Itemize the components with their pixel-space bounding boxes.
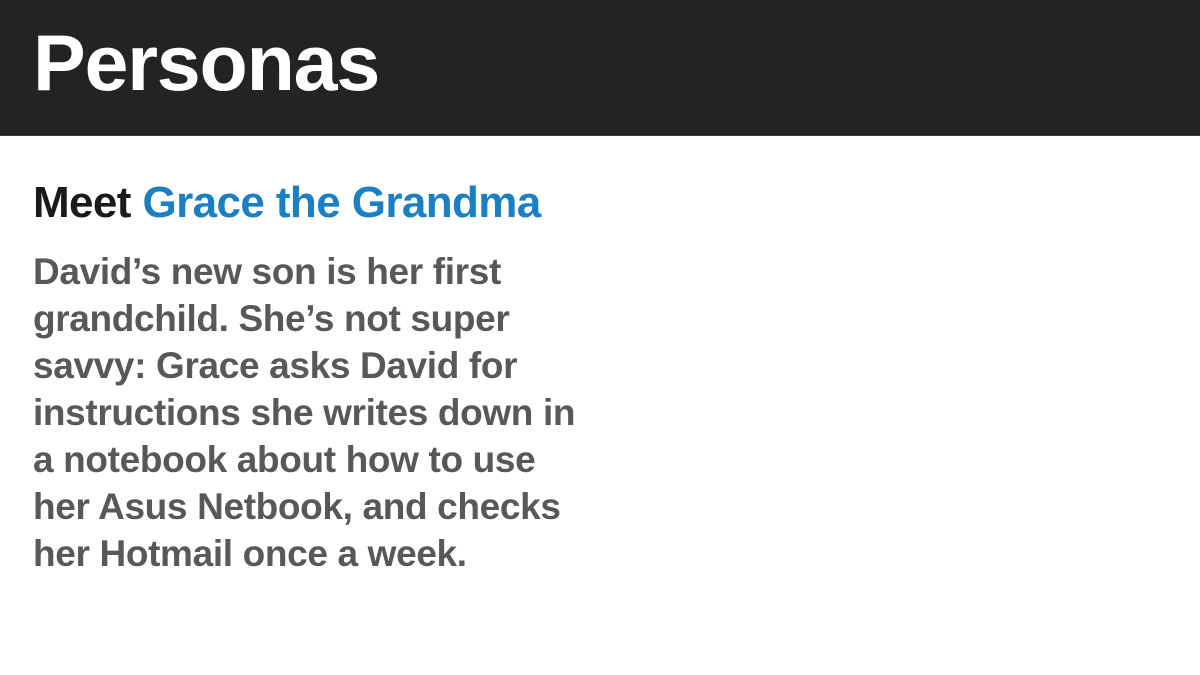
description-line: savvy: Grace asks David for: [33, 342, 673, 389]
slide-body: Meet Grace the Grandma David’s new son i…: [0, 136, 1200, 675]
description-line: a notebook about how to use: [33, 436, 673, 483]
description-line: instructions she writes down in: [33, 389, 673, 436]
persona-heading: Meet Grace the Grandma: [33, 179, 541, 227]
persona-description: David’s new son is her first grandchild.…: [33, 248, 673, 577]
description-line: her Asus Netbook, and checks: [33, 483, 673, 530]
description-line: David’s new son is her first: [33, 248, 673, 295]
persona-heading-lead: Meet: [33, 178, 142, 227]
page-title: Personas: [33, 23, 379, 104]
description-line: her Hotmail once a week.: [33, 530, 673, 577]
slide-header-bar: Personas: [0, 0, 1200, 136]
persona-heading-name: Grace the Grandma: [142, 178, 540, 227]
presentation-slide: Personas Meet Grace the Grandma David’s …: [0, 0, 1200, 675]
description-line: grandchild. She’s not super: [33, 295, 673, 342]
